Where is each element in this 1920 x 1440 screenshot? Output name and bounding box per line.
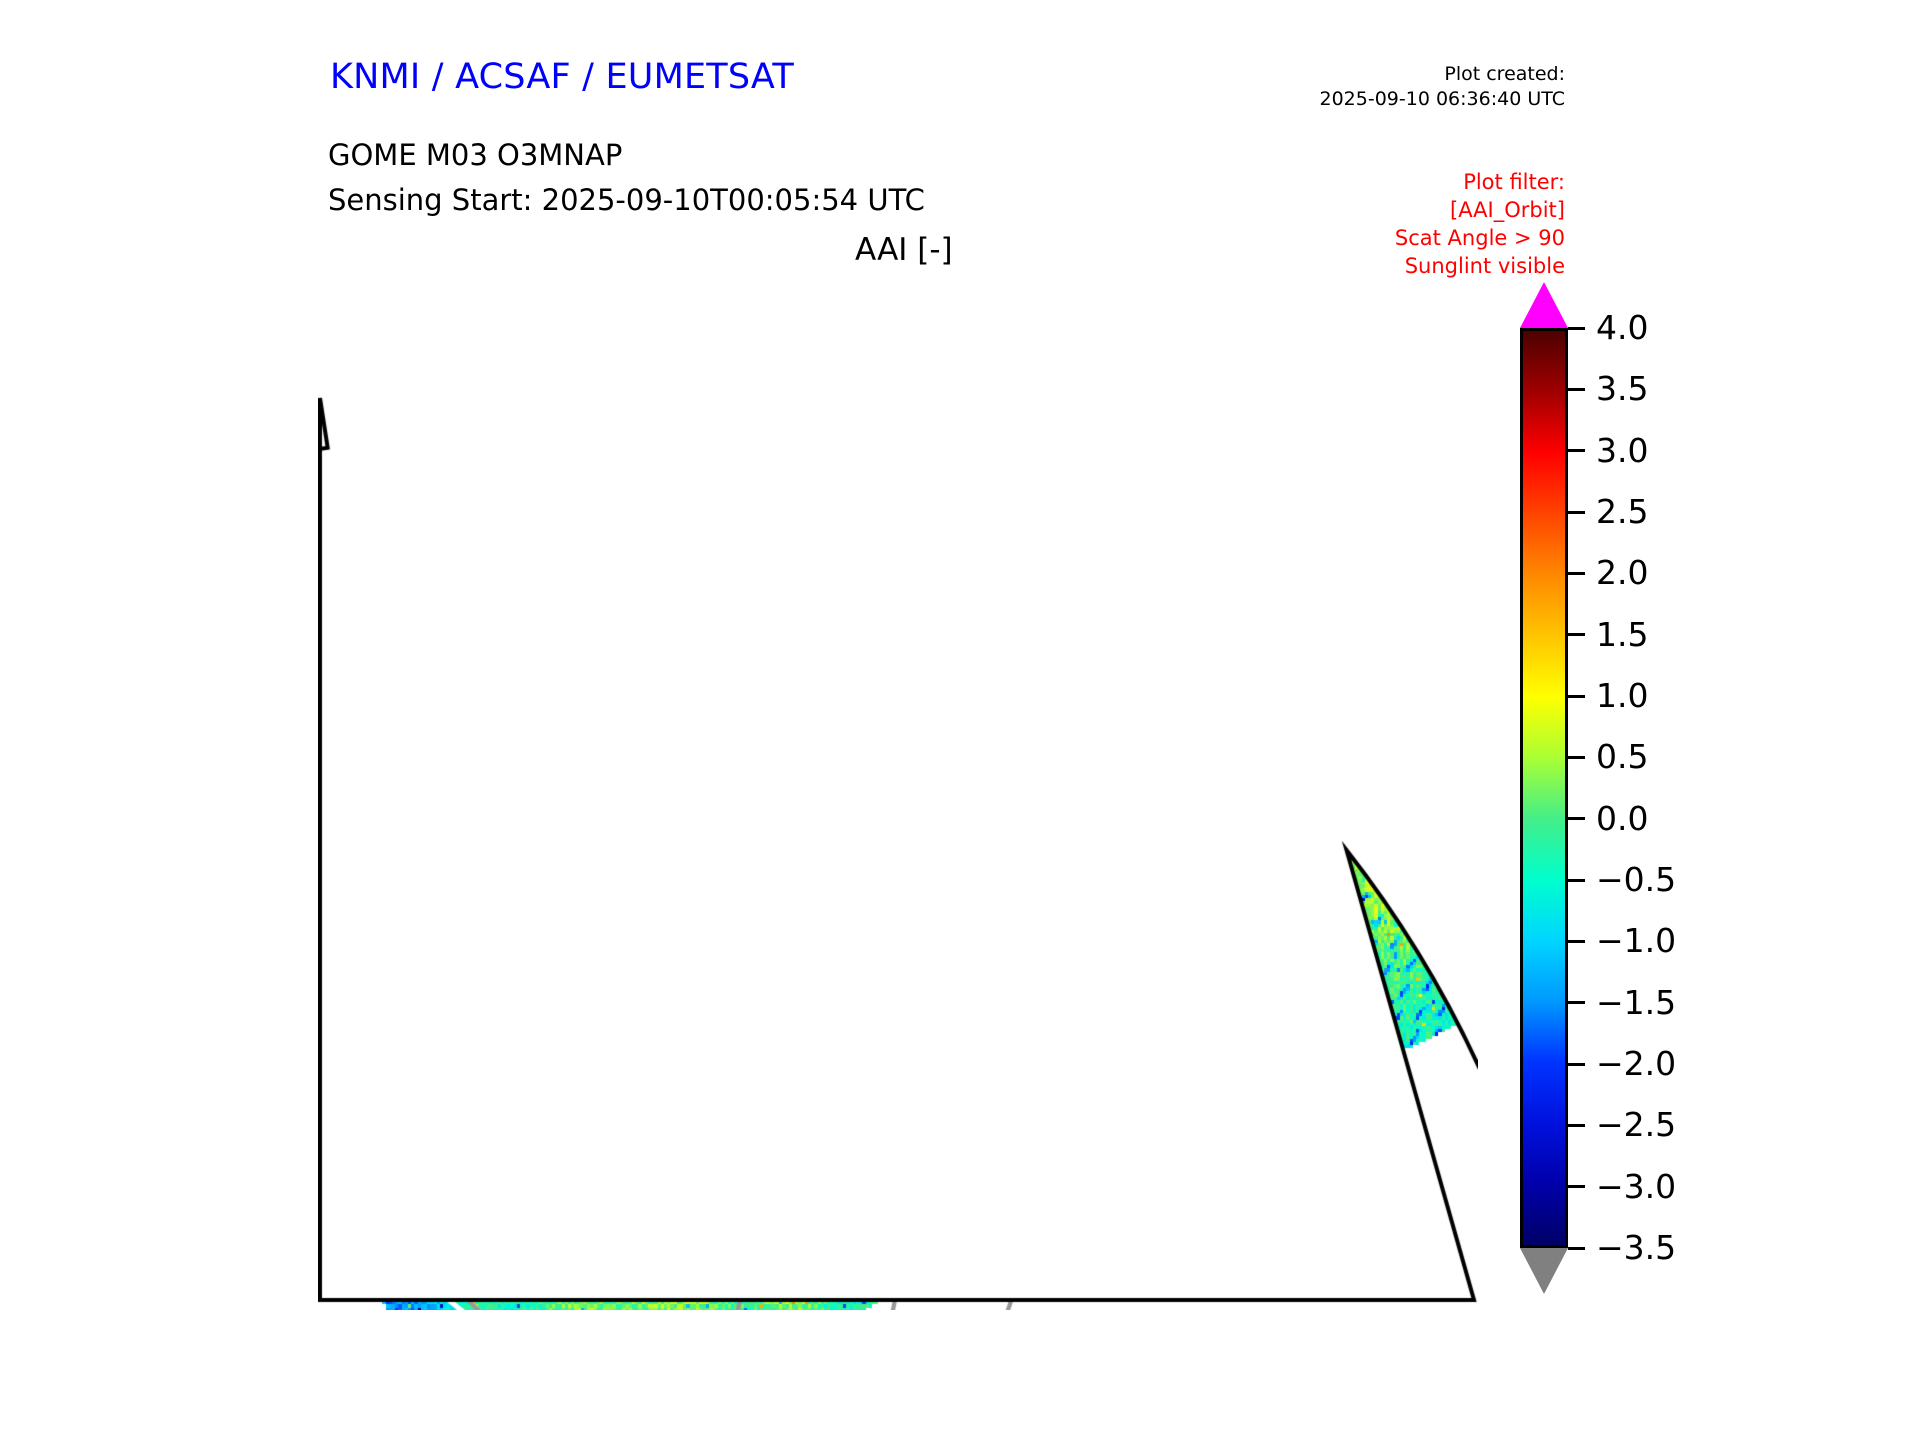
colorbar-tick-label: −2.0: [1596, 1047, 1676, 1080]
plot-created-label: Plot created:: [1320, 62, 1566, 87]
map-plot-area: [318, 280, 1478, 1310]
colorbar-tick-label: −1.5: [1596, 986, 1676, 1019]
colorbar-tick-label: 1.0: [1596, 679, 1648, 712]
colorbar-tick: [1568, 695, 1585, 698]
colorbar-tick-label: 0.5: [1596, 740, 1648, 773]
plot-filter-block: Plot filter: [AAI_Orbit] Scat Angle > 90…: [1395, 168, 1565, 280]
colorbar-tick: [1568, 572, 1585, 575]
organisation-title: KNMI / ACSAF / EUMETSAT: [330, 57, 794, 97]
colorbar-tick: [1568, 1185, 1585, 1188]
colorbar-tick: [1568, 879, 1585, 882]
colorbar-tick-label: 0.0: [1596, 802, 1648, 835]
colorbar-tick: [1568, 1001, 1585, 1004]
colorbar-tick-label: 4.0: [1596, 311, 1648, 344]
colorbar-tick-label: 3.5: [1596, 372, 1648, 405]
colorbar-tick: [1568, 756, 1585, 759]
page-title: AAI [-]: [855, 232, 953, 268]
colorbar-under-arrow: [1520, 1248, 1568, 1294]
colorbar-tick: [1568, 449, 1585, 452]
plot-filter-scat: Scat Angle > 90: [1395, 224, 1565, 252]
colorbar-over-arrow: [1520, 282, 1568, 328]
colorbar-tick: [1568, 388, 1585, 391]
colorbar-tick: [1568, 327, 1585, 330]
colorbar-tick-label: 1.5: [1596, 618, 1648, 651]
colorbar-tick-label: −0.5: [1596, 863, 1676, 896]
colorbar-tick-label: −2.5: [1596, 1108, 1676, 1141]
colorbar-tick: [1568, 1124, 1585, 1127]
colorbar: 4.03.53.02.52.01.51.00.50.0−0.5−1.0−1.5−…: [1520, 282, 1800, 1302]
colorbar-tick-label: −3.5: [1596, 1231, 1676, 1264]
colorbar-tick-label: 2.5: [1596, 495, 1648, 528]
sensing-start-text: Sensing Start: 2025-09-10T00:05:54 UTC: [328, 183, 925, 217]
colorbar-tick-label: −3.0: [1596, 1170, 1676, 1203]
colorbar-tick-label: 2.0: [1596, 556, 1648, 589]
colorbar-tick: [1568, 817, 1585, 820]
colorbar-tick: [1568, 1247, 1585, 1250]
colorbar-tick: [1568, 511, 1585, 514]
plot-filter-sunglint: Sunglint visible: [1395, 252, 1565, 280]
colorbar-gradient: [1520, 328, 1568, 1248]
colorbar-tick: [1568, 633, 1585, 636]
product-name: GOME M03 O3MNAP: [328, 138, 622, 172]
plot-filter-dataset: [AAI_Orbit]: [1395, 196, 1565, 224]
plot-created-value: 2025-09-10 06:36:40 UTC: [1320, 87, 1566, 112]
colorbar-tick: [1568, 940, 1585, 943]
colorbar-tick-label: 3.0: [1596, 434, 1648, 467]
aai-swath-map: [318, 280, 1478, 1310]
plot-filter-label: Plot filter:: [1395, 168, 1565, 196]
colorbar-tick-label: −1.0: [1596, 924, 1676, 957]
plot-created-block: Plot created: 2025-09-10 06:36:40 UTC: [1320, 62, 1566, 112]
colorbar-tick: [1568, 1063, 1585, 1066]
